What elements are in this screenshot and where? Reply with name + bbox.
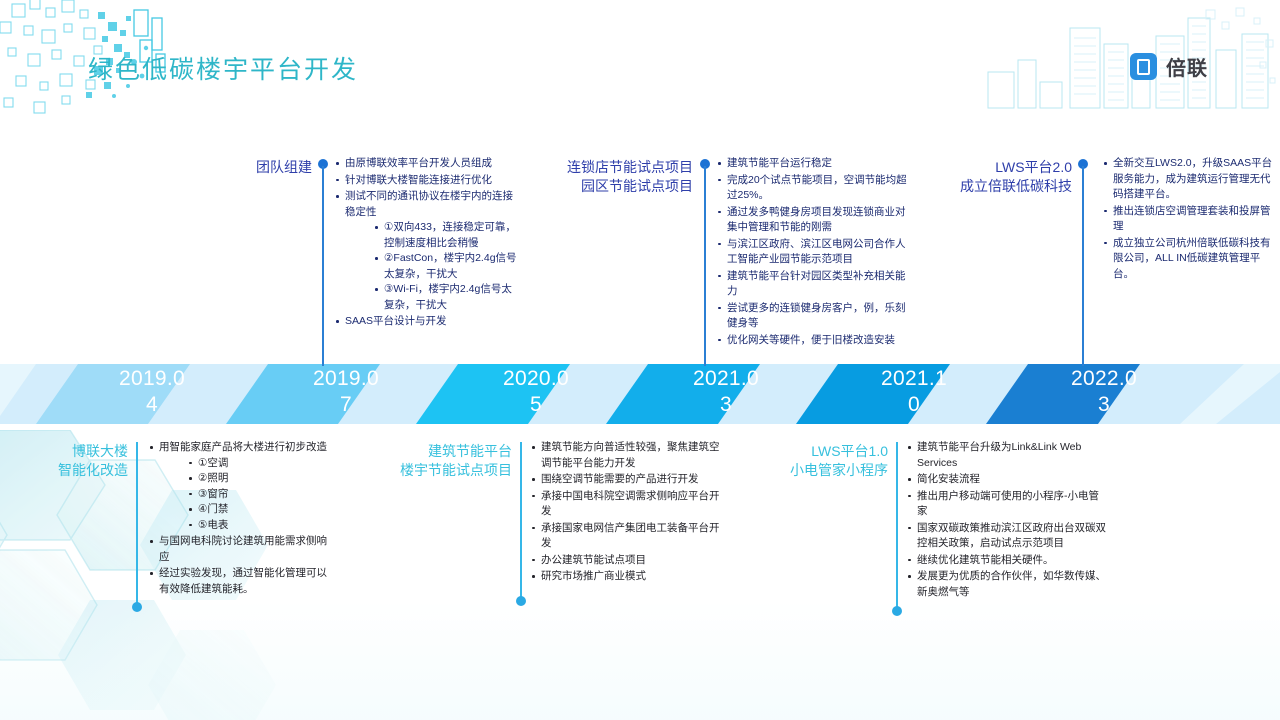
timeline-step-5-line1: 2021.1: [858, 366, 970, 392]
timeline-step-4-line1: 2021.0: [670, 366, 782, 392]
timeline-step-4[interactable]: 2021.0 3: [670, 366, 782, 418]
list-item: 发展更为优质的合作伙伴，如华数传媒、新奥燃气等: [906, 569, 1108, 600]
sub-item: ②照明: [187, 471, 328, 487]
timeline-step-2-line2: 7: [290, 392, 402, 418]
milestone-bottom-2-body: 建筑节能方向普适性较强，聚焦建筑空调节能平台能力开发 围绕空调节能需要的产品进行…: [530, 440, 720, 586]
list-item: 由原博联效率平台开发人员组成: [334, 156, 520, 172]
list-item: 通过发多鸭健身房项目发现连锁商业对集中管理和节能的刚需: [716, 205, 912, 236]
sub-item: ③Wi-Fi，楼宇内2.4g信号太复杂，干扰大: [373, 282, 520, 313]
sub-item: ⑤电表: [187, 518, 328, 534]
list-item: 承接国家电网信产集团电工装备平台开发: [530, 521, 720, 552]
milestone-bottom-3-title: LWS平台1.0 小电管家小程序: [778, 442, 888, 480]
sub-list: ①双向433，连接稳定可靠，控制速度相比会稍慢 ②FastCon，楼宇内2.4g…: [345, 220, 520, 313]
page-title: 绿色低碳楼宇平台开发: [88, 50, 358, 86]
milestone-bottom-2-dot: [516, 596, 526, 606]
milestone-top-1-body: 由原博联效率平台开发人员组成 针对博联大楼智能连接进行优化 测试不同的通讯协议在…: [334, 156, 520, 331]
sub-item: ②FastCon，楼宇内2.4g信号太复杂，干扰大: [373, 251, 520, 282]
timeline-step-4-line2: 3: [670, 392, 782, 418]
milestone-bottom-1-stem: [136, 442, 138, 608]
milestone-bottom-1-dot: [132, 602, 142, 612]
timeline-step-3-line1: 2020.0: [480, 366, 592, 392]
list-item: 优化网关等硬件，便于旧楼改造安装: [716, 333, 912, 349]
list-item: SAAS平台设计与开发: [334, 314, 520, 330]
timeline-step-5[interactable]: 2021.1 0: [858, 366, 970, 418]
brand-logo: 倍联: [1130, 52, 1208, 81]
list-item: 尝试更多的连锁健身房客户，例，乐刻健身等: [716, 301, 912, 332]
milestone-bottom-1-body: 用智能家庭产品将大楼进行初步改造 ①空调 ②照明 ③窗帘 ④门禁 ⑤电表 与国网…: [148, 440, 328, 598]
milestone-top-1-stem: [322, 166, 324, 366]
milestone-top-2-body: 建筑节能平台运行稳定 完成20个试点节能项目，空调节能均超过25%。 通过发多鸭…: [716, 156, 912, 349]
sub-item: ①空调: [187, 456, 328, 472]
list-item: 承接中国电科院空调需求侧响应平台开发: [530, 489, 720, 520]
milestone-top-1-title: 团队组建: [240, 158, 312, 177]
milestone-bottom-3-dot: [892, 606, 902, 616]
milestone-top-2-stem: [704, 166, 706, 366]
list-item: 建筑节能平台运行稳定: [716, 156, 912, 172]
timeline-step-1[interactable]: 2019.0 4: [96, 366, 208, 418]
timeline-step-6-line2: 3: [1048, 392, 1160, 418]
sub-list: ①空调 ②照明 ③窗帘 ④门禁 ⑤电表: [159, 456, 328, 534]
timeline-step-5-line2: 0: [858, 392, 970, 418]
milestone-top-3-title: LWS平台2.0 成立倍联低碳科技: [906, 158, 1072, 196]
list-item: 全新交互LWS2.0，升级SAAS平台服务能力，成为建筑运行管理无代码搭建平台。: [1102, 156, 1280, 203]
milestone-bottom-3-body: 建筑节能平台升级为Link&Link Web Services 简化安装流程 推…: [906, 440, 1108, 601]
list-item: 建筑节能平台升级为Link&Link Web Services: [906, 440, 1108, 471]
list-item: 围绕空调节能需要的产品进行开发: [530, 472, 720, 488]
milestone-bottom-3-stem: [896, 442, 898, 612]
list-item: 推出连锁店空调管理套装和投屏管理: [1102, 204, 1280, 235]
list-item: 简化安装流程: [906, 472, 1108, 488]
list-item: 经过实验发现，通过智能化管理可以有效降低建筑能耗。: [148, 566, 328, 597]
list-item: 建筑节能平台针对园区类型补充相关能力: [716, 269, 912, 300]
list-item: 建筑节能方向普适性较强，聚焦建筑空调节能平台能力开发: [530, 440, 720, 471]
list-item: 完成20个试点节能项目，空调节能均超过25%。: [716, 173, 912, 204]
sub-item: ④门禁: [187, 502, 328, 518]
milestone-top-3-stem: [1082, 166, 1084, 366]
list-item: 用智能家庭产品将大楼进行初步改造 ①空调 ②照明 ③窗帘 ④门禁 ⑤电表: [148, 440, 328, 533]
list-item: 办公建筑节能试点项目: [530, 553, 720, 569]
milestone-bottom-2-stem: [520, 442, 522, 602]
brand-name: 倍联: [1166, 52, 1208, 81]
milestone-bottom-1-title: 博联大楼 智能化改造: [28, 442, 128, 480]
sub-item: ③窗帘: [187, 487, 328, 503]
timeline-step-1-line1: 2019.0: [96, 366, 208, 392]
city-skyline-decoration: [970, 0, 1280, 125]
timeline-step-2[interactable]: 2019.0 7: [290, 366, 402, 418]
timeline-step-6[interactable]: 2022.0 3: [1048, 366, 1160, 418]
list-item: 推出用户移动端可使用的小程序-小电管家: [906, 489, 1108, 520]
milestone-top-3-body: 全新交互LWS2.0，升级SAAS平台服务能力，成为建筑运行管理无代码搭建平台。…: [1102, 156, 1280, 283]
timeline-step-3[interactable]: 2020.0 5: [480, 366, 592, 418]
milestone-top-2-title: 连锁店节能试点项目 园区节能试点项目: [528, 158, 693, 196]
list-item: 研究市场推广商业模式: [530, 569, 720, 585]
timeline-step-6-line1: 2022.0: [1048, 366, 1160, 392]
slide-root: 绿色低碳楼宇平台开发 倍联 2019.0 4 2019.0 7: [0, 0, 1280, 720]
milestone-bottom-2-title: 建筑节能平台 楼宇节能试点项目: [398, 442, 512, 480]
timeline-step-3-line2: 5: [480, 392, 592, 418]
sub-item: ①双向433，连接稳定可靠，控制速度相比会稍慢: [373, 220, 520, 251]
timeline-step-1-line2: 4: [96, 392, 208, 418]
timeline-labels: 2019.0 4 2019.0 7 2020.0 5 2021.0 3 2021…: [0, 364, 1280, 424]
list-item: 成立独立公司杭州倍联低碳科技有限公司，ALL IN低碳建筑管理平台。: [1102, 236, 1280, 283]
list-item: 针对博联大楼智能连接进行优化: [334, 173, 520, 189]
list-item: 与国网电科院讨论建筑用能需求侧响应: [148, 534, 328, 565]
timeline-step-2-line1: 2019.0: [290, 366, 402, 392]
list-item: 与滨江区政府、滨江区电网公司合作人工智能产业园节能示范项目: [716, 237, 912, 268]
list-item: 测试不同的通讯协议在楼宇内的连接稳定性 ①双向433，连接稳定可靠，控制速度相比…: [334, 189, 520, 313]
list-item: 继续优化建筑节能相关硬件。: [906, 553, 1108, 569]
square-logo-icon: [1130, 53, 1157, 80]
list-item: 国家双碳政策推动滨江区政府出台双碳双控相关政策，启动试点示范项目: [906, 521, 1108, 552]
